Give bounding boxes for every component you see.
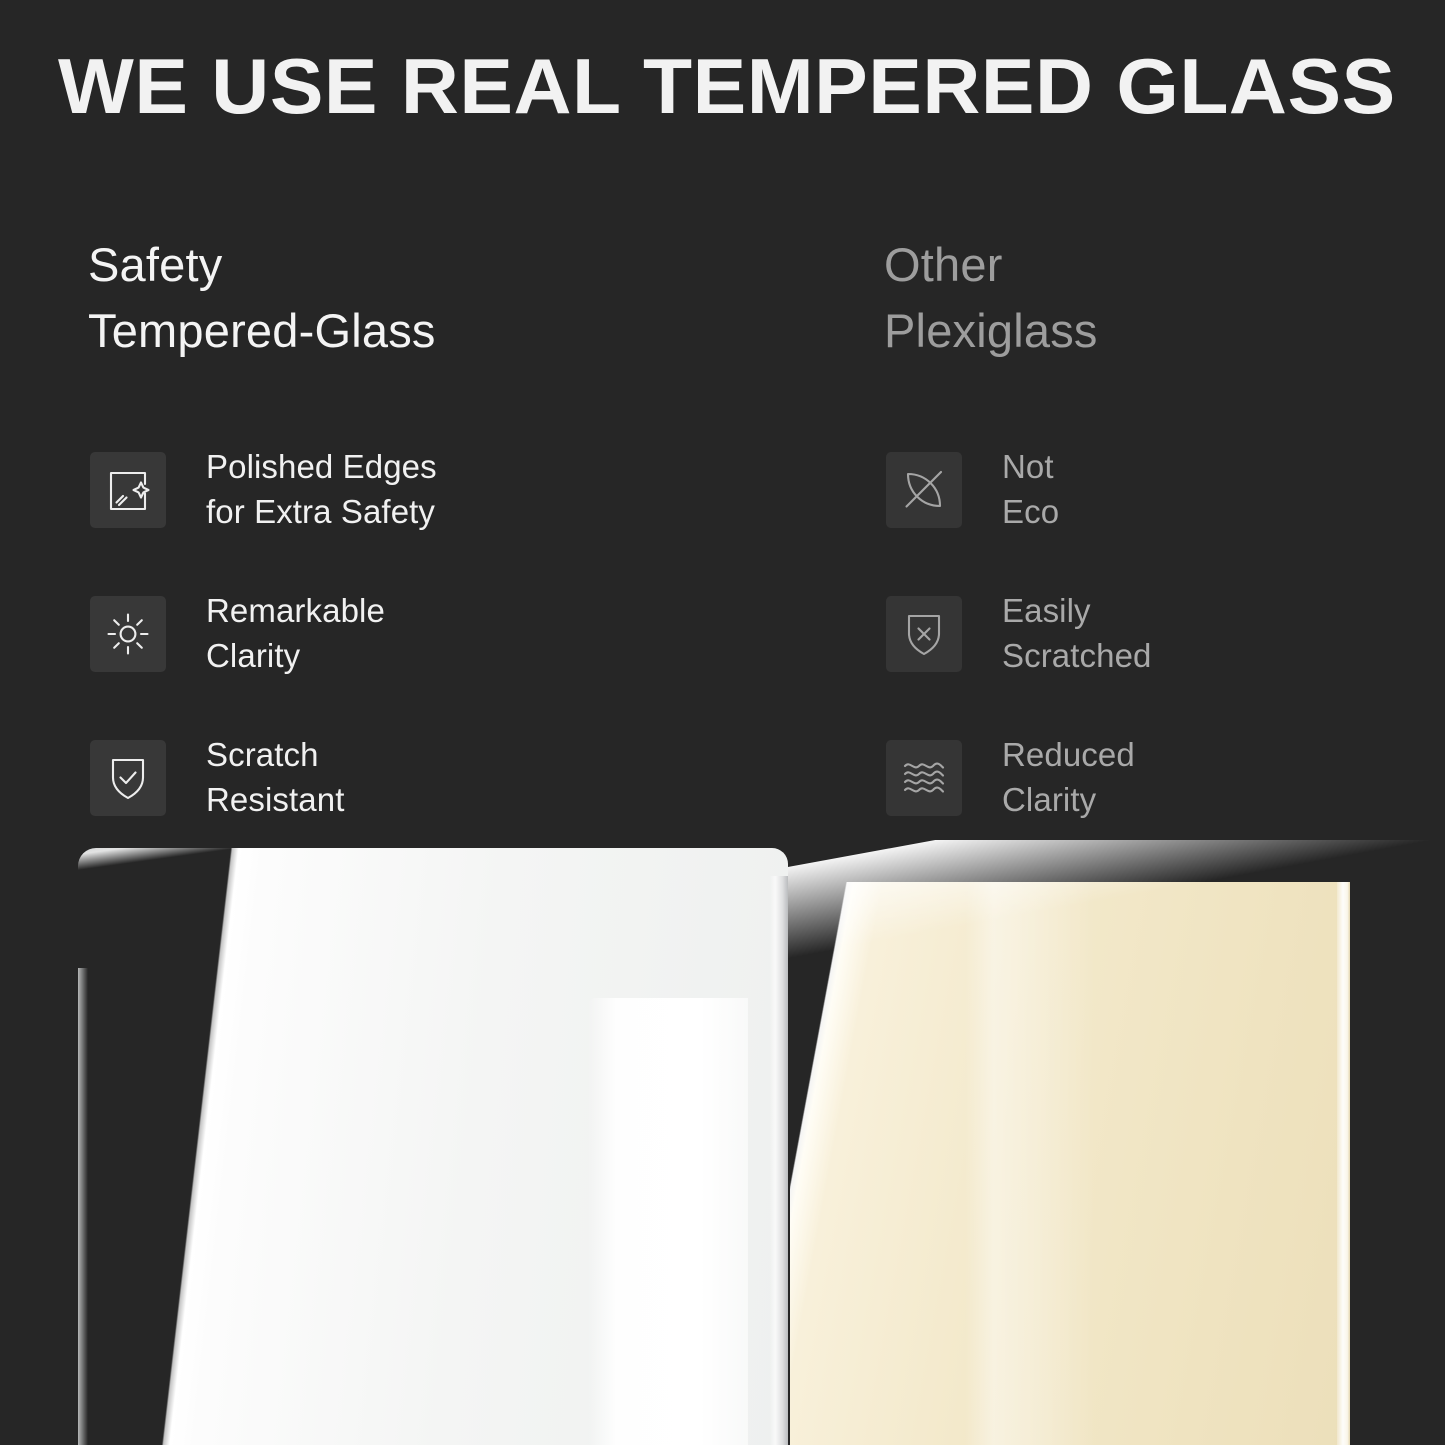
wavy-lines-icon — [886, 740, 962, 816]
tempered-glass-polished-edge — [78, 848, 788, 874]
column-heading-left-line2: Tempered-Glass — [88, 298, 788, 364]
plexiglass-right-edge — [1337, 882, 1350, 1445]
feature-label-line2: Resistant — [206, 777, 344, 822]
feature-label-line1: Not — [1002, 448, 1054, 485]
feature-item: Polished Edges for Extra Safety — [88, 452, 788, 596]
shield-check-icon — [90, 740, 166, 816]
feature-label-line2: Clarity — [1002, 777, 1135, 822]
feature-label: Scratch Resistant — [206, 732, 344, 822]
feature-item: Not Eco — [884, 452, 1444, 596]
feature-label-line1: Scratch — [206, 736, 319, 773]
feature-label-line2: Scratched — [1002, 633, 1151, 678]
feature-item: Remarkable Clarity — [88, 596, 788, 740]
feature-label-line1: Remarkable — [206, 592, 385, 629]
feature-label: Easily Scratched — [1002, 588, 1151, 678]
feature-label-line1: Easily — [1002, 592, 1091, 629]
column-heading-left: Safety Tempered-Glass — [88, 232, 788, 364]
column-heading-right-line1: Other — [884, 238, 1003, 291]
column-plexiglass: Other Plexiglass Not Eco — [884, 232, 1444, 364]
plexiglass-panel — [790, 882, 1350, 1445]
infographic-root: WE USE REAL TEMPERED GLASS Safety Temper… — [0, 0, 1445, 1445]
tempered-glass-panel — [78, 848, 788, 1445]
tempered-glass-reflection — [588, 998, 748, 1445]
polished-glass-sparkle-icon — [90, 452, 166, 528]
plexiglass-sheen — [965, 882, 1095, 1445]
feature-label-line1: Reduced — [1002, 736, 1135, 773]
tempered-glass-left-edge — [78, 968, 88, 1445]
feature-label: Polished Edges for Extra Safety — [206, 444, 437, 534]
feature-label-line2: Eco — [1002, 489, 1059, 534]
feature-label: Not Eco — [1002, 444, 1059, 534]
sun-clarity-icon — [90, 596, 166, 672]
feature-label-line2: for Extra Safety — [206, 489, 437, 534]
leaf-crossed-out-icon — [886, 452, 962, 528]
feature-label-line1: Polished Edges — [206, 448, 437, 485]
feature-label-line2: Clarity — [206, 633, 385, 678]
column-heading-left-line1: Safety — [88, 238, 222, 291]
feature-list-right: Not Eco Easily Scratched — [884, 452, 1444, 884]
page-title: WE USE REAL TEMPERED GLASS — [58, 38, 1438, 134]
tempered-glass-right-edge — [770, 876, 788, 1445]
feature-label: Reduced Clarity — [1002, 732, 1135, 822]
glass-panels-illustration — [0, 840, 1445, 1445]
shield-x-icon — [886, 596, 962, 672]
column-heading-right-line2: Plexiglass — [884, 298, 1444, 364]
feature-item: Easily Scratched — [884, 596, 1444, 740]
feature-label: Remarkable Clarity — [206, 588, 385, 678]
column-tempered-glass: Safety Tempered-Glass Polished Edges for… — [88, 232, 788, 364]
plexiglass-top-highlight — [750, 840, 1445, 963]
column-heading-right: Other Plexiglass — [884, 232, 1444, 364]
feature-list-left: Polished Edges for Extra Safety Rem — [88, 452, 788, 884]
